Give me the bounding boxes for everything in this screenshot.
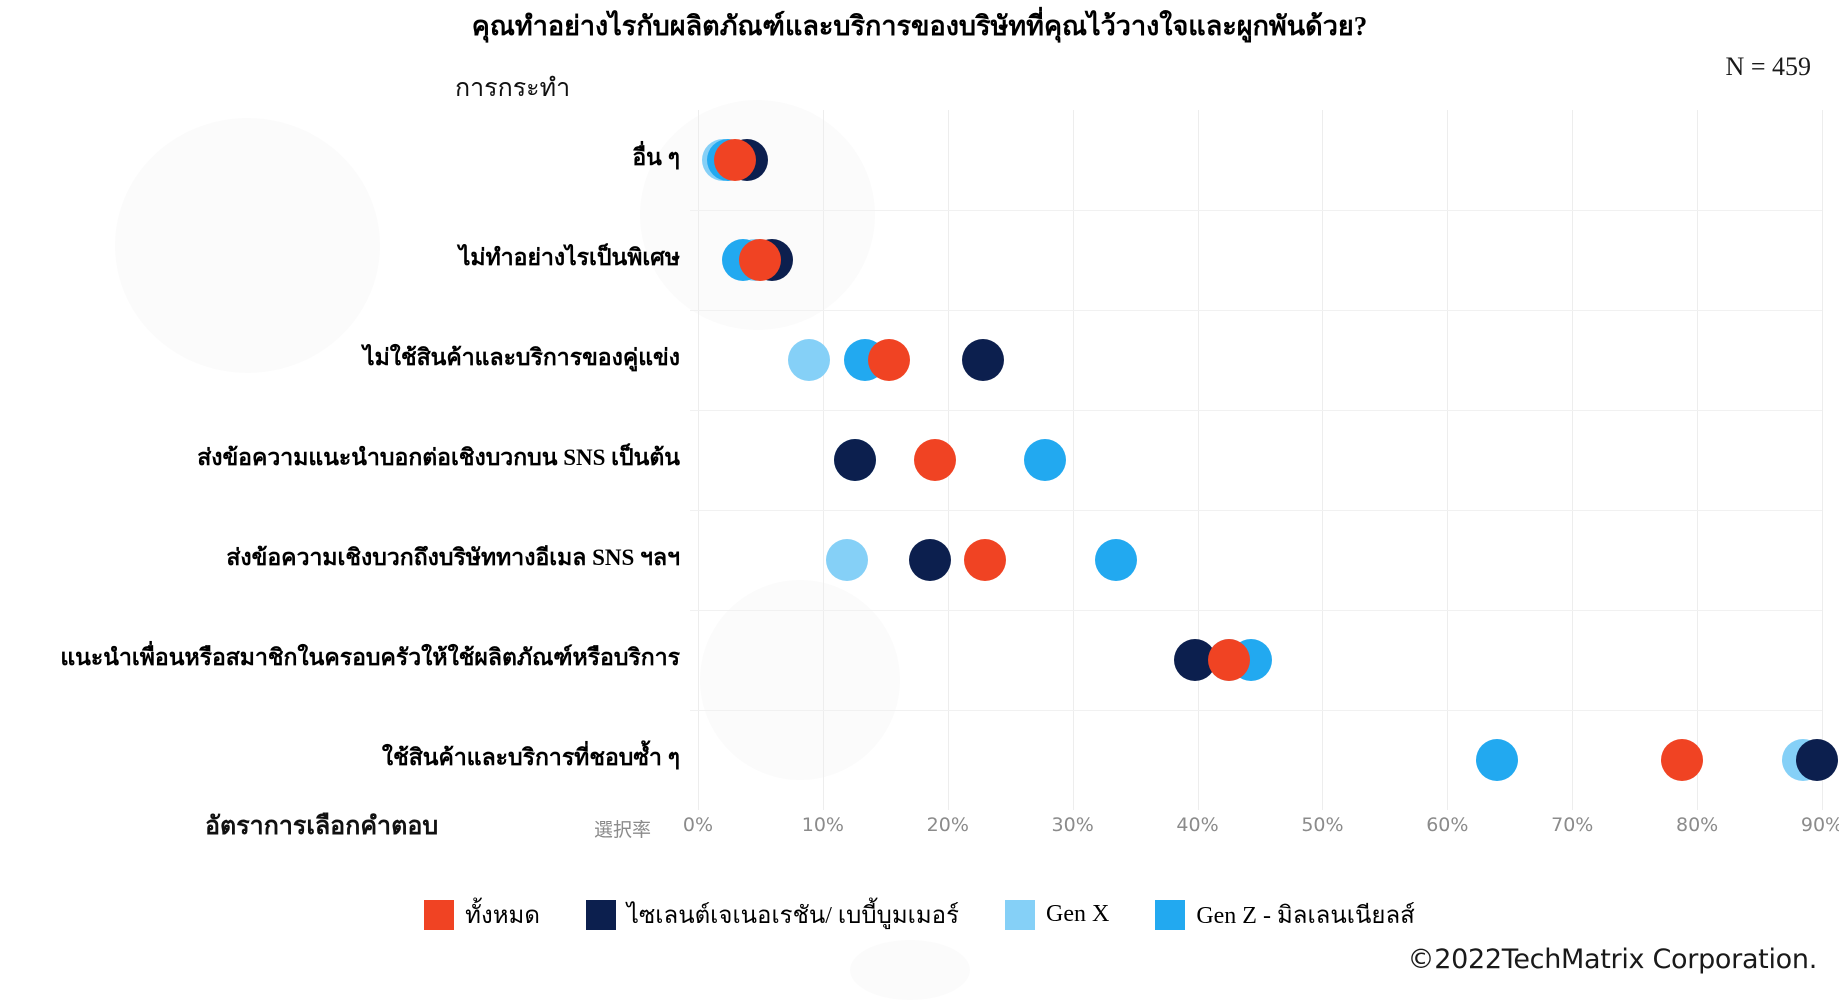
gridline-horizontal <box>690 210 1822 211</box>
data-point <box>834 439 876 481</box>
legend-swatch-icon <box>424 900 454 930</box>
sample-size-label: N = 459 <box>1726 52 1811 82</box>
y-axis-caption: การกระทำ <box>455 68 570 108</box>
data-point <box>1095 539 1137 581</box>
legend-item[interactable]: ไซเลนต์เจเนอเรชัน/ เบบี้บูมเมอร์ <box>586 895 959 934</box>
x-tick-label: 30% <box>1052 814 1094 836</box>
legend-label: Gen X <box>1046 901 1109 928</box>
legend-swatch-icon <box>1005 900 1035 930</box>
data-point <box>964 539 1006 581</box>
category-label: อื่น ๆ <box>632 145 680 171</box>
x-tick-label: 60% <box>1426 814 1468 836</box>
legend-swatch-icon <box>1155 900 1185 930</box>
chart-container: คุณทำอย่างไรกับผลิตภัณฑ์และบริการของบริษ… <box>0 0 1839 993</box>
x-tick-label: 0% <box>683 814 713 836</box>
x-tick-label: 40% <box>1176 814 1218 836</box>
gridline-horizontal <box>690 410 1822 411</box>
gridline-vertical <box>1822 110 1823 810</box>
category-label: ใช้สินค้าและบริการที่ชอบซ้ำ ๆ <box>382 745 680 771</box>
data-point <box>1476 739 1518 781</box>
gridline-horizontal <box>690 310 1822 311</box>
plot-area <box>698 110 1822 810</box>
gridline-vertical <box>1572 110 1573 810</box>
legend-swatch-icon <box>586 900 616 930</box>
gridline-vertical <box>698 110 699 810</box>
legend-label: ทั้งหมด <box>465 895 540 934</box>
chart-legend: ทั้งหมดไซเลนต์เจเนอเรชัน/ เบบี้บูมเมอร์G… <box>0 895 1839 934</box>
gridline-horizontal <box>690 710 1822 711</box>
data-point <box>962 339 1004 381</box>
gridline-vertical <box>1697 110 1698 810</box>
gridline-vertical <box>1447 110 1448 810</box>
category-label: แนะนำเพื่อนหรือสมาชิกในครอบครัวให้ใช้ผลิ… <box>60 645 680 671</box>
watermark-blob <box>115 118 380 373</box>
x-axis-caption: อัตราการเลือกคำตอบ <box>205 806 438 846</box>
data-point <box>826 539 868 581</box>
gridline-vertical <box>823 110 824 810</box>
x-tick-label: 20% <box>927 814 969 836</box>
data-point <box>1661 739 1703 781</box>
data-point <box>788 339 830 381</box>
category-label: ไม่ใช้สินค้าและบริการของคู่แข่ง <box>363 345 680 371</box>
x-tick-label: 70% <box>1551 814 1593 836</box>
gridline-horizontal <box>690 610 1822 611</box>
data-point <box>909 539 951 581</box>
gridline-vertical <box>1198 110 1199 810</box>
x-axis-caption-secondary: 選択率 <box>594 815 651 842</box>
category-label: ไม่ทำอย่างไรเป็นพิเศษ <box>459 245 680 271</box>
legend-item[interactable]: Gen X <box>1005 900 1109 930</box>
data-point <box>914 439 956 481</box>
x-tick-label: 80% <box>1676 814 1718 836</box>
watermark-blob <box>850 940 970 1000</box>
data-point <box>868 339 910 381</box>
copyright-notice: ©2022TechMatrix Corporation. <box>1408 944 1817 975</box>
data-point <box>1024 439 1066 481</box>
gridline-horizontal <box>690 510 1822 511</box>
x-tick-label: 50% <box>1301 814 1343 836</box>
legend-label: ไซเลนต์เจเนอเรชัน/ เบบี้บูมเมอร์ <box>627 895 959 934</box>
category-label: ส่งข้อความเชิงบวกถึงบริษัททางอีเมล SNS ฯ… <box>226 545 680 571</box>
data-point <box>1208 639 1250 681</box>
legend-item[interactable]: ทั้งหมด <box>424 895 540 934</box>
legend-label: Gen Z - มิลเลนเนียลส์ <box>1196 895 1415 934</box>
chart-title: คุณทำอย่างไรกับผลิตภัณฑ์และบริการของบริษ… <box>0 8 1839 44</box>
gridline-vertical <box>1322 110 1323 810</box>
data-point <box>1796 739 1838 781</box>
legend-item[interactable]: Gen Z - มิลเลนเนียลส์ <box>1155 895 1415 934</box>
x-tick-label: 90% <box>1801 814 1839 836</box>
gridline-vertical <box>1073 110 1074 810</box>
category-label: ส่งข้อความแนะนำบอกต่อเชิงบวกบน SNS เป็นต… <box>197 445 680 471</box>
x-tick-label: 10% <box>802 814 844 836</box>
